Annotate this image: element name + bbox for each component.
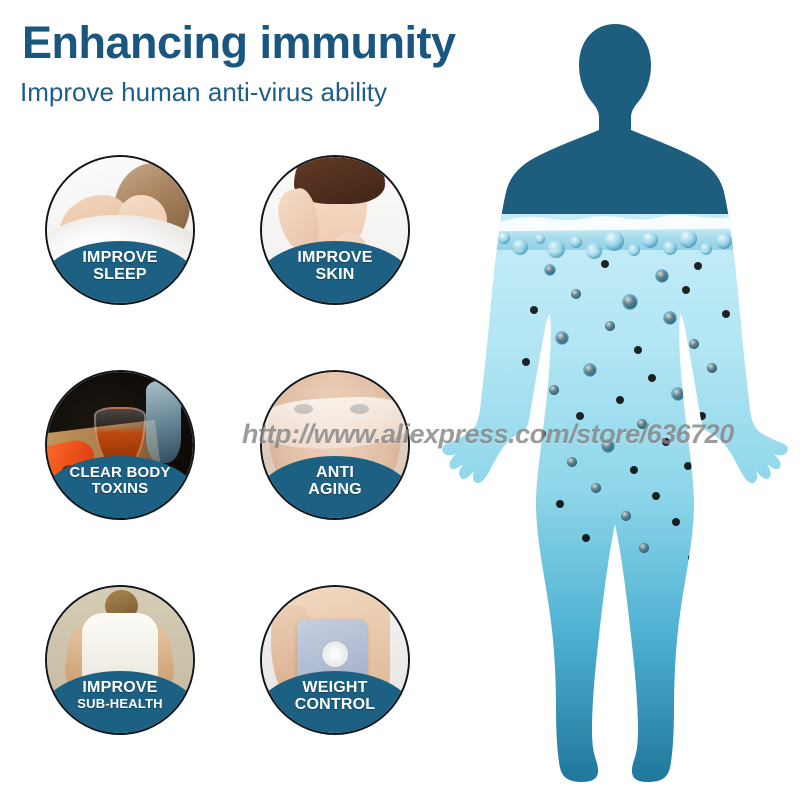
badge-caption-line2: AGING [308, 482, 361, 499]
badge-caption-line2: SKIN [315, 267, 354, 284]
badge-caption-line1: CLEAR BODY [69, 465, 170, 481]
badge-clear-body-toxins[interactable]: CLEAR BODY TOXINS [45, 370, 195, 520]
badge-improve-sleep[interactable]: IMPROVE SLEEP [45, 155, 195, 305]
badge-caption-line2: CONTROL [295, 697, 376, 714]
badge-caption-line1: IMPROVE [82, 680, 157, 697]
badge-caption-line2: TOXINS [92, 481, 149, 497]
benefit-badge-grid: IMPROVE SLEEP IMPROVE SKIN CLEAR BODY [0, 0, 440, 800]
human-water-figure [430, 18, 800, 793]
badge-improve-skin[interactable]: IMPROVE SKIN [260, 155, 410, 305]
badge-caption-line2: SLEEP [93, 267, 146, 284]
badge-caption-line2: SUB-HEALTH [77, 697, 163, 711]
badge-improve-sub-health[interactable]: IMPROVE SUB-HEALTH [45, 585, 195, 735]
page-title: Enhancing immunity [22, 20, 456, 65]
badge-weight-control[interactable]: WEIGHT CONTROL [260, 585, 410, 735]
badge-caption-line1: IMPROVE [297, 250, 372, 267]
badge-caption-line1: IMPROVE [82, 250, 157, 267]
badge-caption-line1: WEIGHT [302, 680, 367, 697]
badge-caption-line1: ANTI [316, 465, 354, 482]
page-subtitle: Improve human anti-virus ability [20, 79, 387, 105]
badge-anti-aging[interactable]: ANTI AGING [260, 370, 410, 520]
